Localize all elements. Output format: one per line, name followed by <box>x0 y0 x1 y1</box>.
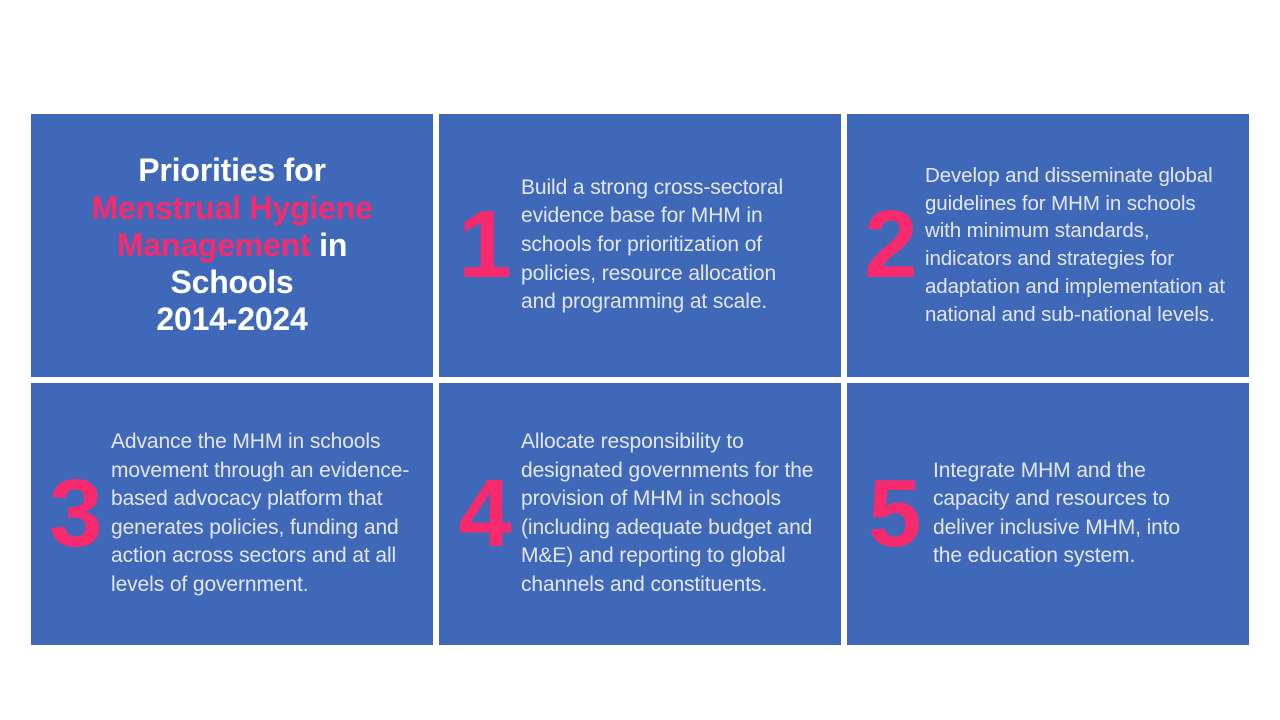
priority-text-2: Develop and disseminate global guideline… <box>925 162 1235 329</box>
priority-number-2: 2 <box>855 201 925 289</box>
title-line-5: 2014-2024 <box>91 301 372 338</box>
priority-text-5: Integrate MHM and the capacity and resou… <box>933 457 1193 571</box>
priority-number-4: 4 <box>447 470 521 558</box>
title-stack: Priorities for Menstrual Hygiene Managem… <box>91 152 372 338</box>
title-line-1: Priorities for <box>91 152 372 189</box>
priority-card-4: 4 Allocate responsibility to designated … <box>439 383 841 646</box>
title-card: Priorities for Menstrual Hygiene Managem… <box>31 114 433 377</box>
priority-text-4: Allocate responsibility to designated go… <box>521 428 827 599</box>
priority-text-1: Build a strong cross-sectoral evidence b… <box>521 174 789 317</box>
priority-card-2: 2 Develop and disseminate global guideli… <box>847 114 1249 377</box>
priorities-grid: Priorities for Menstrual Hygiene Managem… <box>31 114 1249 645</box>
priority-card-1: 1 Build a strong cross-sectoral evidence… <box>439 114 841 377</box>
priority-text-3: Advance the MHM in schools movement thro… <box>111 428 419 599</box>
priority-number-1: 1 <box>447 201 521 289</box>
priority-card-3: 3 Advance the MHM in schools movement th… <box>31 383 433 646</box>
infographic-canvas: Priorities for Menstrual Hygiene Managem… <box>0 0 1280 720</box>
priority-number-3: 3 <box>39 470 111 558</box>
priority-number-5: 5 <box>855 470 933 558</box>
title-line-3-white <box>310 227 319 263</box>
title-line-3-pink: Management <box>117 227 311 263</box>
priority-card-5: 5 Integrate MHM and the capacity and res… <box>847 383 1249 646</box>
title-line-3: Management in <box>91 227 372 264</box>
title-line-4: Schools <box>91 264 372 301</box>
title-line-2: Menstrual Hygiene <box>91 190 372 227</box>
title-line-3-suffix: in <box>319 227 347 263</box>
